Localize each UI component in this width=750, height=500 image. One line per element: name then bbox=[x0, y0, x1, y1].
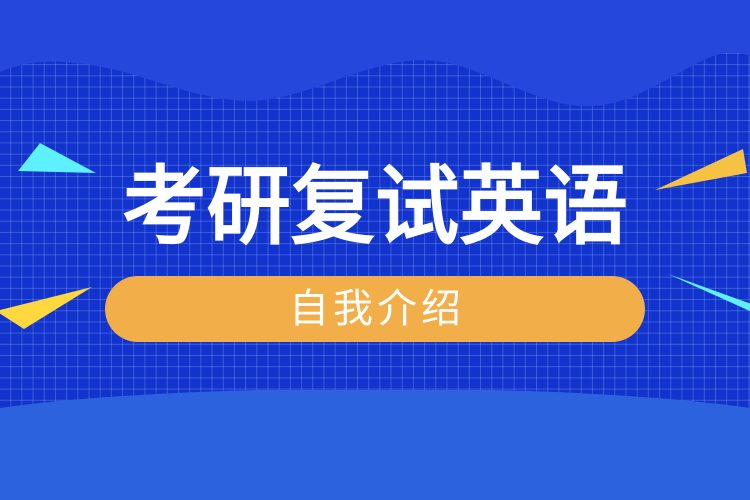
subtitle-pill-label: 自我介绍 bbox=[285, 289, 465, 329]
promo-banner: 考研复试英语 自我介绍 bbox=[0, 0, 750, 500]
subtitle-pill-button[interactable]: 自我介绍 bbox=[105, 276, 645, 342]
banner-content: 考研复试英语 自我介绍 bbox=[0, 0, 750, 500]
banner-title: 考研复试英语 bbox=[122, 164, 628, 250]
